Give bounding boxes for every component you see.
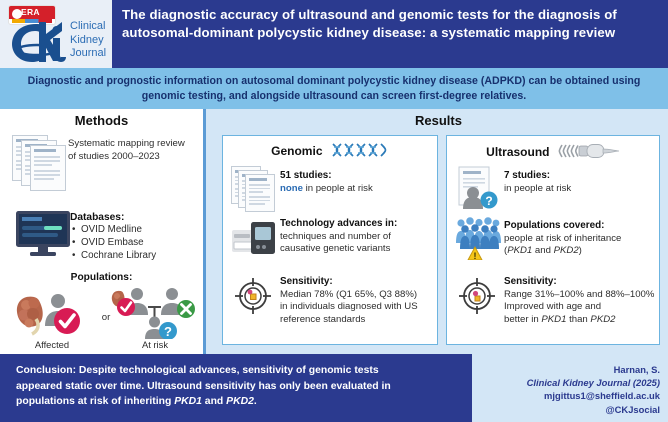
header-bar: ERA Clinical Kidney Jou [0,0,668,68]
ultrasound-sensitivity-heading: Sensitivity: [504,276,662,289]
citation-journal: Clinical Kidney Journal (2025) [476,376,660,389]
dna-helix-icon [331,142,389,158]
kidney-icon [17,297,43,334]
ultrasound-populations-line2: (PKD1 and PKD2) [504,245,656,258]
ultrasound-panel-title: Ultrasound [447,142,659,160]
ultrasound-sensitivity-line2: Improved with age and [504,301,662,314]
genomic-block-sensitivity: Sensitivity: Median 78% (Q1 65%, Q3 88%)… [280,276,435,326]
better-in-text: better in [504,314,541,325]
ultrasound-studies-heading: 7 studies: [504,170,654,183]
ultrasound-populations-line1: people at risk of inheritance [504,233,656,246]
at-risk-label: At risk [110,339,200,350]
infographic-poster: ERA Clinical Kidney Jou [0,0,668,422]
target-icon [457,276,497,316]
at-risk-population-icon: ? [110,285,200,339]
check-circle-icon [117,298,135,316]
gene-pkd1: PKD1 [174,396,202,407]
journal-name-line2: Kidney [70,34,106,48]
ultrasound-populations-heading: Populations covered: [504,220,656,233]
era-logo-text: ERA [21,6,55,19]
genomic-studies-highlight: none [280,183,303,194]
genomic-block-studies: 51 studies: none in people at risk [280,170,432,195]
results-heading: Results [206,113,668,128]
genomic-technology-line1: techniques and number of [280,231,432,244]
body-content: Methods [0,109,668,354]
footer-bar: Conclusion: Despite technological advanc… [0,354,668,422]
genomic-title-text: Genomic [271,144,322,158]
gene-pkd1: PKD1 [507,245,532,256]
methods-summary-line2: of studies 2000–2023 [68,150,200,163]
ultrasound-probe-icon [558,142,620,160]
gene-pkd1: PKD1 [541,314,566,325]
methods-section: Methods [0,109,203,354]
poster-title: The diagnostic accuracy of ultrasound an… [122,6,656,41]
conclusion-line3: populations at risk of inheriting PKD1 a… [16,394,466,410]
journal-logo: ERA Clinical Kidney Jou [0,0,112,68]
sequencer-machine-icon [231,218,277,258]
computer-monitor-icon [14,209,72,259]
key-message-banner: Diagnostic and prognostic information on… [0,68,668,109]
key-message-text: Diagnostic and prognostic information on… [24,74,644,104]
genomic-studies-body: none in people at risk [280,183,432,196]
ultrasound-sensitivity-line3: better in PKD1 than PKD2 [504,314,662,327]
and-text: and [202,396,226,407]
genomic-sensitivity-heading: Sensitivity: [280,276,435,289]
journal-name: Clinical Kidney Journal [70,20,106,61]
ultrasound-block-studies: 7 studies: in people at risk [504,170,654,195]
citation-social-handle[interactable]: @CKJsocial [476,403,660,416]
check-circle-icon [54,308,80,334]
genomic-panel-title: Genomic [223,142,437,158]
documents-icon [231,166,279,212]
methods-summary-line1: Systematic mapping review [68,137,200,150]
genomic-sensitivity-line2: in individuals diagnosed with US [280,301,435,314]
than-text: than [566,314,590,325]
ultrasound-title-text: Ultrasound [486,145,549,159]
period: . [254,396,257,407]
databases-list: OVID Medline OVID Embase Cochrane Librar… [70,223,200,263]
ultrasound-panel: Ultrasound [446,135,660,345]
ultrasound-block-sensitivity: Sensitivity: Range 31%–100% and 88%–100%… [504,276,662,326]
ckj-monogram-icon [6,20,68,64]
genomic-sensitivity-line3: reference standards [280,314,435,327]
document-person-question-icon: ? [455,166,503,210]
genomic-block-technology: Technology advances in: techniques and n… [280,218,432,256]
citation-author: Harnan, S. [476,363,660,376]
genomic-studies-heading: 51 studies: [280,170,432,183]
database-item: Cochrane Library [81,249,200,262]
genomic-technology-line2: causative genetic variants [280,243,432,256]
populations-heading: Populations: [0,272,203,283]
and-text: and [532,245,553,256]
genomic-panel: Genomic [222,135,438,345]
citation-email[interactable]: mjgittus1@sheffield.ac.uk [476,389,660,402]
affected-population-icon [12,289,92,337]
results-section: Results Genomic [203,109,668,354]
genomic-technology-heading: Technology advances in: [280,218,432,231]
svg-text:?: ? [485,194,492,208]
documents-icon [12,135,74,191]
ultrasound-studies-body: in people at risk [504,183,654,196]
gene-pkd2: PKD2 [554,245,579,256]
methods-databases: Databases: OVID Medline OVID Embase Coch… [70,212,200,263]
paren-close: ) [579,245,582,256]
genomic-sensitivity-line1: Median 78% (Q1 65%, Q3 88%) [280,289,435,302]
svg-text:!: ! [474,251,477,260]
ultrasound-block-populations: Populations covered: people at risk of i… [504,220,656,258]
conclusion-line1: Conclusion: Despite technological advanc… [16,363,466,379]
methods-heading: Methods [0,113,203,128]
conclusion-line2: appeared static over time. Ultrasound se… [16,379,466,395]
journal-name-line1: Clinical [70,20,106,34]
gene-pkd2: PKD2 [226,396,254,407]
gene-pkd2: PKD2 [590,314,615,325]
citation-block: Harnan, S. Clinical Kidney Journal (2025… [472,354,668,422]
methods-summary: Systematic mapping review of studies 200… [68,137,200,163]
target-icon [233,276,273,316]
svg-text:?: ? [164,324,172,339]
affected-label: Affected [6,339,98,350]
ultrasound-sensitivity-line1: Range 31%–100% and 88%–100% [504,289,662,302]
genomic-studies-body-rest: in people at risk [303,183,373,194]
population-warning-icon: ! [455,216,503,260]
database-item: OVID Embase [81,236,200,249]
databases-heading: Databases: [70,212,200,223]
conclusion-line3-pre: populations at risk of inheriting [16,396,174,407]
journal-name-line3: Journal [70,47,106,61]
conclusion-text: Conclusion: Despite technological advanc… [16,363,466,410]
database-item: OVID Medline [81,223,200,236]
